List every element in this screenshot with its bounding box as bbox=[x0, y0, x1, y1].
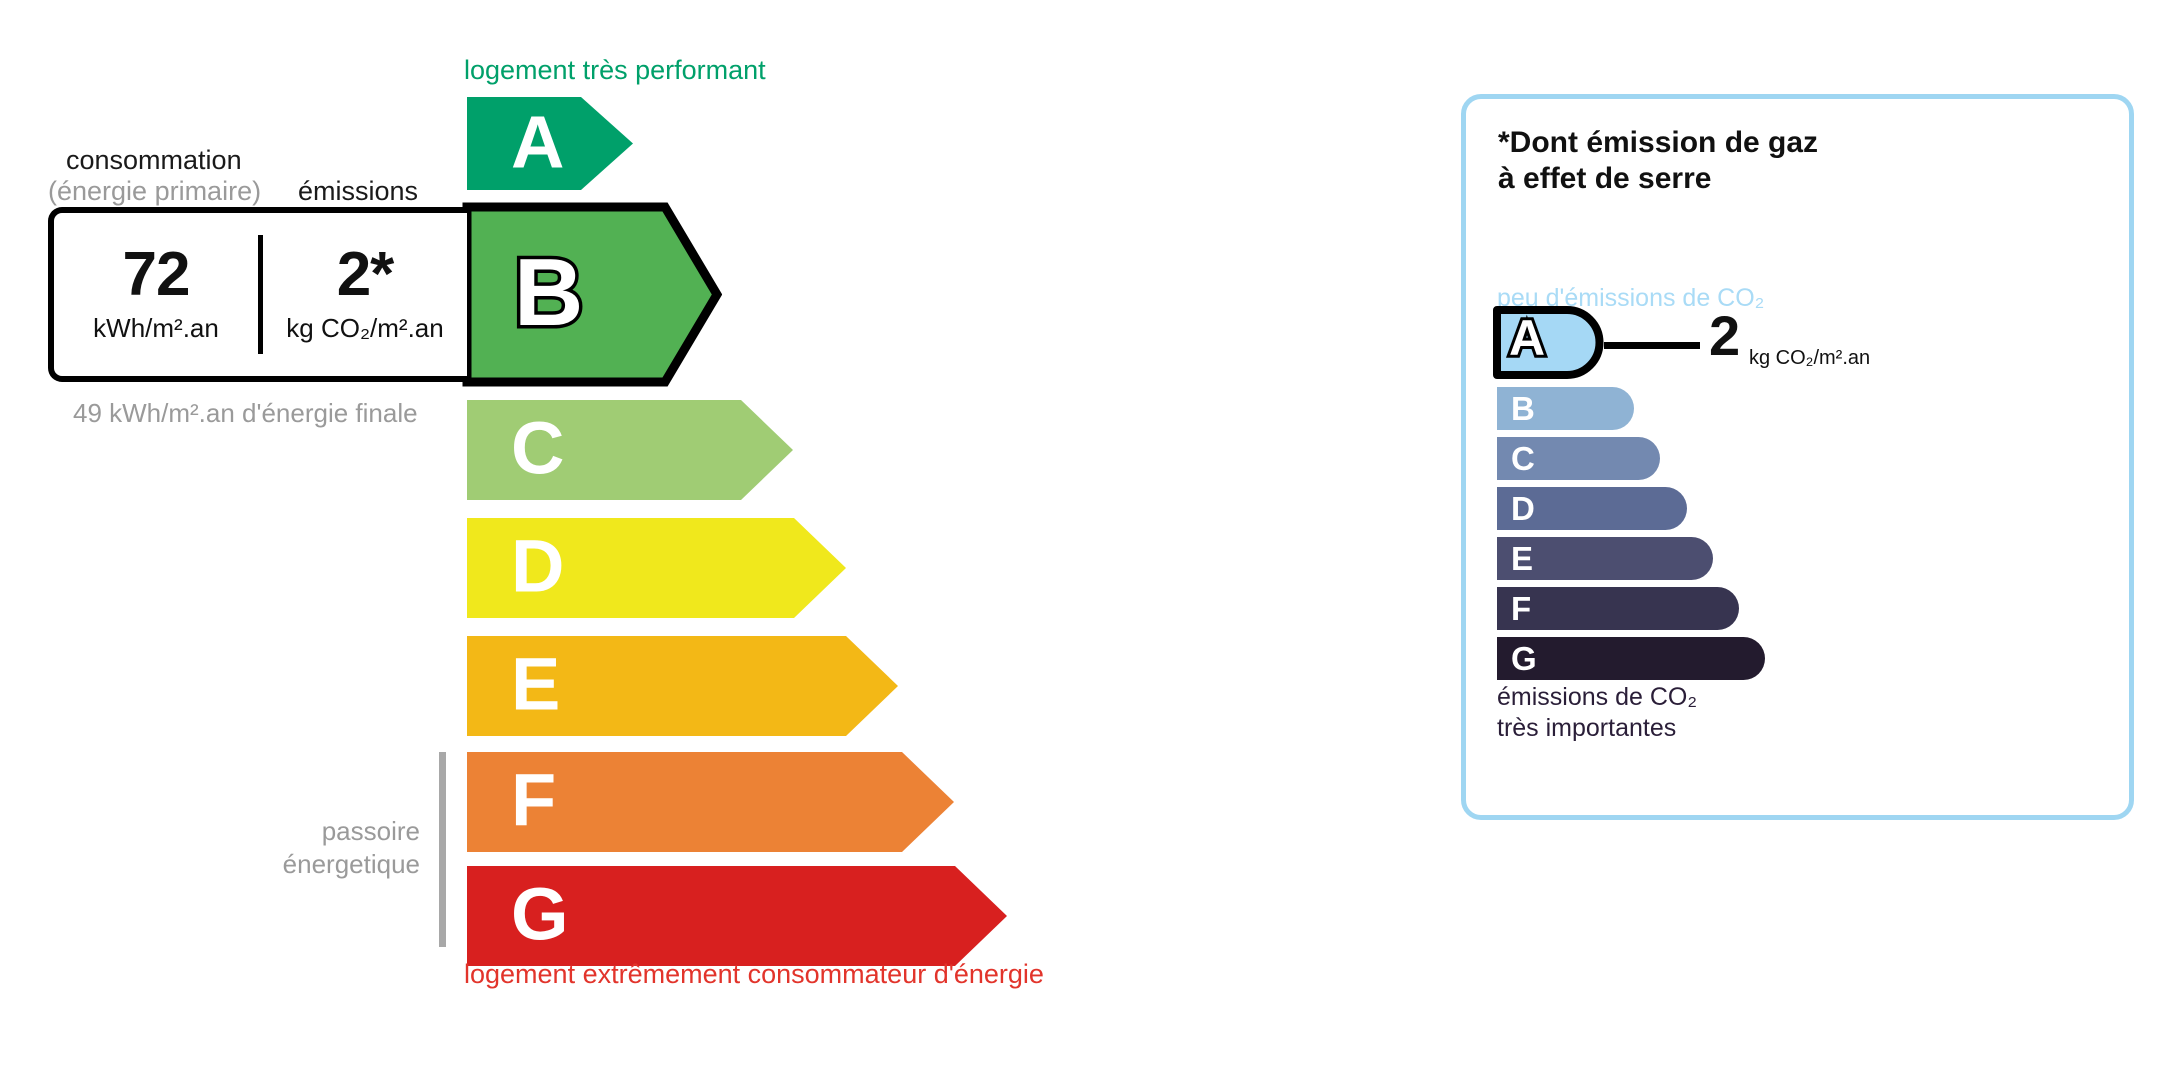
ges-connector-line bbox=[1604, 342, 1700, 349]
ges-bar-letter: E bbox=[1511, 542, 1533, 575]
greenhouse-gas-panel: *Dont émission de gaz à effet de serre p… bbox=[1461, 94, 2134, 820]
emission-unit: kg CO₂/m².an bbox=[286, 313, 443, 344]
ges-bar-g: G bbox=[1497, 637, 1765, 680]
ges-bar-f: F bbox=[1497, 587, 1739, 630]
passoire-bracket bbox=[439, 752, 446, 947]
consumption-value-cell: 72 kWh/m².an bbox=[54, 213, 258, 376]
emissions-header: émissions bbox=[298, 176, 418, 207]
energy-bar-b: B bbox=[462, 202, 722, 387]
ges-bar-letter: G bbox=[1511, 642, 1537, 675]
emission-value: 2* bbox=[337, 245, 394, 306]
consumption-subheader: (énergie primaire) bbox=[48, 176, 261, 207]
energy-bar-c: C bbox=[467, 400, 793, 500]
final-energy-note: 49 kWh/m².an d'énergie finale bbox=[73, 397, 418, 430]
scale-bottom-label: logement extrêmement consommateur d'éner… bbox=[464, 959, 1044, 990]
consumption-value: 72 bbox=[123, 245, 190, 306]
ges-value: 2 bbox=[1709, 308, 1740, 364]
ges-bar-d: D bbox=[1497, 487, 1687, 530]
energy-bar-g: G bbox=[467, 866, 1007, 966]
energy-bar-d: D bbox=[467, 518, 846, 618]
ges-bar-e: E bbox=[1497, 537, 1713, 580]
energy-bar-a: A bbox=[467, 97, 633, 190]
ges-selected-letter: A bbox=[1509, 313, 1545, 363]
scale-top-label: logement très performant bbox=[464, 55, 766, 86]
consumption-unit: kWh/m².an bbox=[93, 313, 219, 344]
ges-bottom-label: émissions de CO₂ très importantes bbox=[1497, 682, 1697, 745]
ges-selected-badge-a: A bbox=[1493, 306, 1604, 379]
dpe-figure: logement très performant consommation (é… bbox=[0, 0, 2169, 1079]
ges-bar-letter: D bbox=[1511, 492, 1535, 525]
energy-bar-e: E bbox=[467, 636, 898, 736]
emission-value-cell: 2* kg CO₂/m².an bbox=[263, 213, 467, 376]
ges-panel-title: *Dont émission de gaz à effet de serre bbox=[1498, 125, 1818, 197]
ges-bar-letter: C bbox=[1511, 442, 1535, 475]
ges-bar-letter: F bbox=[1511, 592, 1531, 625]
ges-value-unit: kg CO₂/m².an bbox=[1749, 347, 1870, 370]
rating-value-box: 72 kWh/m².an 2* kg CO₂/m².an bbox=[48, 207, 467, 382]
energy-bar-f: F bbox=[467, 752, 954, 852]
consumption-header: consommation bbox=[66, 145, 242, 176]
passoire-label: passoire énergetique bbox=[230, 815, 420, 880]
energy-performance-scale: logement très performant consommation (é… bbox=[0, 0, 1300, 1079]
ges-bar-c: C bbox=[1497, 437, 1660, 480]
ges-bar-letter: B bbox=[1511, 392, 1535, 425]
ges-bar-b: B bbox=[1497, 387, 1634, 430]
